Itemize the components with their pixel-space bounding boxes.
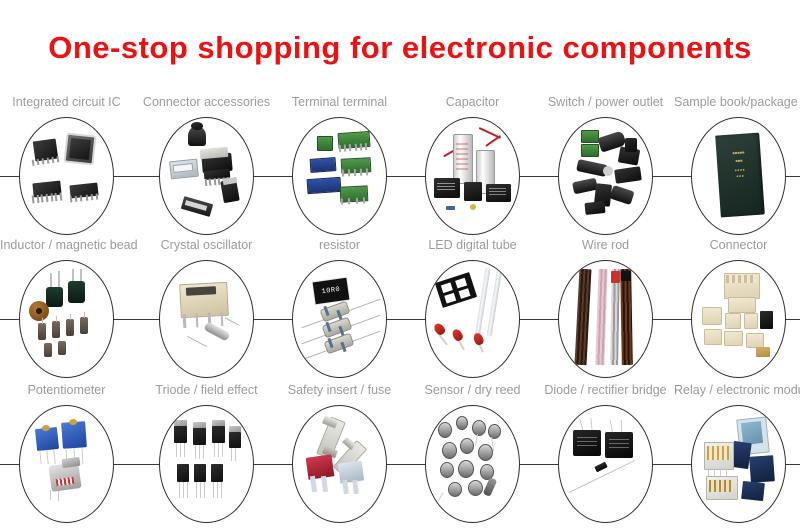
category-bubble[interactable] <box>691 405 786 523</box>
category-row-3: Potentiometer <box>0 383 800 528</box>
category-label: Capacitor <box>406 95 539 109</box>
category-bubble[interactable] <box>425 260 520 378</box>
category-cell-relay-electronic-module[interactable]: Relay / electronic module <box>672 383 800 528</box>
connector-accessories-icon <box>160 118 253 234</box>
category-label: Sensor / dry reed <box>406 383 539 397</box>
category-bubble[interactable] <box>558 117 653 235</box>
led-digital-tube-icon <box>426 261 519 377</box>
category-cell-triode-field-effect[interactable]: Triode / field effect <box>140 383 273 528</box>
category-bubble[interactable] <box>159 117 254 235</box>
category-cell-capacitor[interactable]: Capacitor <box>406 95 539 240</box>
category-label: Inductor / magnetic bead <box>0 238 133 252</box>
category-cell-switch-power-outlet[interactable]: Switch / power outlet <box>539 95 672 240</box>
category-cell-inductor-magnetic-bead[interactable]: Inductor / magnetic bead <box>0 238 133 383</box>
crystal-oscillator-icon <box>160 261 253 377</box>
category-cell-wire-rod[interactable]: Wire rod <box>539 238 672 383</box>
category-bubble[interactable] <box>425 117 520 235</box>
category-bubble[interactable] <box>425 405 520 523</box>
triode-field-effect-icon <box>160 406 253 522</box>
sensor-dry-reed-icon <box>426 406 519 522</box>
category-bubble[interactable] <box>558 260 653 378</box>
category-bubble[interactable] <box>691 260 786 378</box>
connector-icon <box>692 261 785 377</box>
category-bubble[interactable]: 10R0 <box>292 260 387 378</box>
category-bubble[interactable] <box>19 117 114 235</box>
category-label: Connector <box>672 238 800 252</box>
capacitors-icon <box>426 118 519 234</box>
category-cell-integrated-circuit-ic[interactable]: Integrated circuit IC <box>0 95 133 240</box>
category-bubble[interactable] <box>558 405 653 523</box>
terminal-blocks-icon <box>293 118 386 234</box>
category-bubble[interactable] <box>19 260 114 378</box>
resistors-icon: 10R0 <box>293 261 386 377</box>
switch-power-outlet-icon <box>559 118 652 234</box>
category-bubble[interactable] <box>292 117 387 235</box>
category-label: Safety insert / fuse <box>273 383 406 397</box>
wire-rod-icon <box>559 261 652 377</box>
category-bubble[interactable]: ■■■■■ ■■■ ■ ■ ■ ■ ■ ■ ■ <box>691 117 786 235</box>
category-label: Connector accessories <box>140 95 273 109</box>
category-cell-sensor-dry-reed[interactable]: Sensor / dry reed <box>406 383 539 528</box>
category-label: Potentiometer <box>0 383 133 397</box>
category-label: Terminal terminal <box>273 95 406 109</box>
category-cell-led-digital-tube[interactable]: LED digital tube <box>406 238 539 383</box>
category-label: Sample book/package <box>674 95 800 109</box>
category-cell-crystal-oscillator[interactable]: Crystal oscillator <box>140 238 273 383</box>
diode-rectifier-bridge-icon <box>559 406 652 522</box>
fuse-icon <box>293 406 386 522</box>
sample-book-icon: ■■■■■ ■■■ ■ ■ ■ ■ ■ ■ ■ <box>692 118 785 234</box>
category-row-2: Inductor / magnetic bead <box>0 238 800 383</box>
category-cell-resistor[interactable]: resistor 10R0 <box>273 238 406 383</box>
category-label: Diode / rectifier bridge <box>539 383 672 397</box>
relay-electronic-module-icon <box>692 406 785 522</box>
category-cell-connector-accessories[interactable]: Connector accessories <box>140 95 273 240</box>
category-label: Relay / electronic module <box>674 383 800 397</box>
category-cell-terminal-terminal[interactable]: Terminal terminal <box>273 95 406 240</box>
page-title: One-stop shopping for electronic compone… <box>0 30 800 66</box>
category-cell-connector[interactable]: Connector <box>672 238 800 383</box>
category-bubble[interactable] <box>19 405 114 523</box>
category-bubble[interactable] <box>159 260 254 378</box>
category-cell-sample-book-package[interactable]: Sample book/package ■■■■■ ■■■ ■ ■ ■ ■ ■ … <box>672 95 800 240</box>
inductors-icon <box>20 261 113 377</box>
category-label: Crystal oscillator <box>140 238 273 252</box>
category-row-1: Integrated circuit IC Connecto <box>0 95 800 240</box>
category-bubble[interactable] <box>292 405 387 523</box>
category-label: Triode / field effect <box>140 383 273 397</box>
category-label: Wire rod <box>539 238 672 252</box>
category-cell-diode-rectifier-bridge[interactable]: Diode / rectifier bridge <box>539 383 672 528</box>
potentiometer-icon <box>20 406 113 522</box>
category-cell-potentiometer[interactable]: Potentiometer <box>0 383 133 528</box>
category-bubble[interactable] <box>159 405 254 523</box>
category-label: LED digital tube <box>406 238 539 252</box>
category-label: Integrated circuit IC <box>0 95 133 109</box>
category-label: Switch / power outlet <box>539 95 672 109</box>
category-cell-safety-insert-fuse[interactable]: Safety insert / fuse <box>273 383 406 528</box>
book-cover-text: ■■■■■ <box>716 149 760 157</box>
ic-chips-icon <box>20 118 113 234</box>
category-label: resistor <box>273 238 406 252</box>
